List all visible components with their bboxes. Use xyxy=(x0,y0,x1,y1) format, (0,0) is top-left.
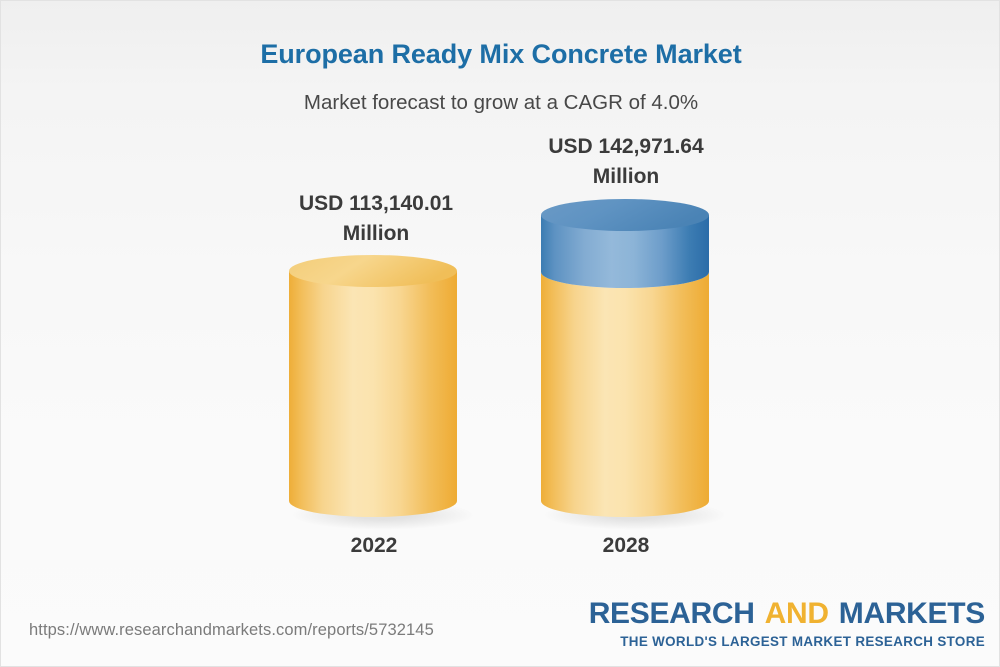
bar-value-label-2022: USD 113,140.01 Million xyxy=(256,189,496,249)
bar-category-label-2022: 2022 xyxy=(286,534,462,558)
bar-cylinder-2028-graphic xyxy=(535,197,727,531)
bar-value-label-2022-line1: USD 113,140.01 xyxy=(256,189,496,219)
brand-logo-markets: MARKETS xyxy=(839,597,985,630)
source-url[interactable]: https://www.researchandmarkets.com/repor… xyxy=(29,621,434,640)
bar-value-label-2022-line2: Million xyxy=(256,219,496,249)
brand-logo-wordmark: RESEARCHANDMARKETS xyxy=(589,599,985,629)
bar-value-label-2028: USD 142,971.64 Million xyxy=(506,132,746,192)
brand-logo: RESEARCHANDMARKETS THE WORLD'S LARGEST M… xyxy=(589,599,985,648)
chart-plot-area: USD 113,140.01 Million xyxy=(1,1,1000,601)
bar-category-label-2028: 2028 xyxy=(538,534,714,558)
bar-cylinder-2022-graphic xyxy=(283,253,475,531)
brand-logo-tagline: THE WORLD'S LARGEST MARKET RESEARCH STOR… xyxy=(589,635,985,648)
brand-logo-research: RESEARCH xyxy=(589,597,755,630)
bar-value-label-2028-line2: Million xyxy=(506,162,746,192)
market-forecast-infographic: European Ready Mix Concrete Market Marke… xyxy=(0,0,1000,667)
brand-logo-and: AND xyxy=(765,597,829,630)
bar-cylinder-2028[interactable] xyxy=(535,197,727,531)
bar-value-label-2028-line1: USD 142,971.64 xyxy=(506,132,746,162)
bar-cylinder-2022[interactable] xyxy=(283,253,475,531)
